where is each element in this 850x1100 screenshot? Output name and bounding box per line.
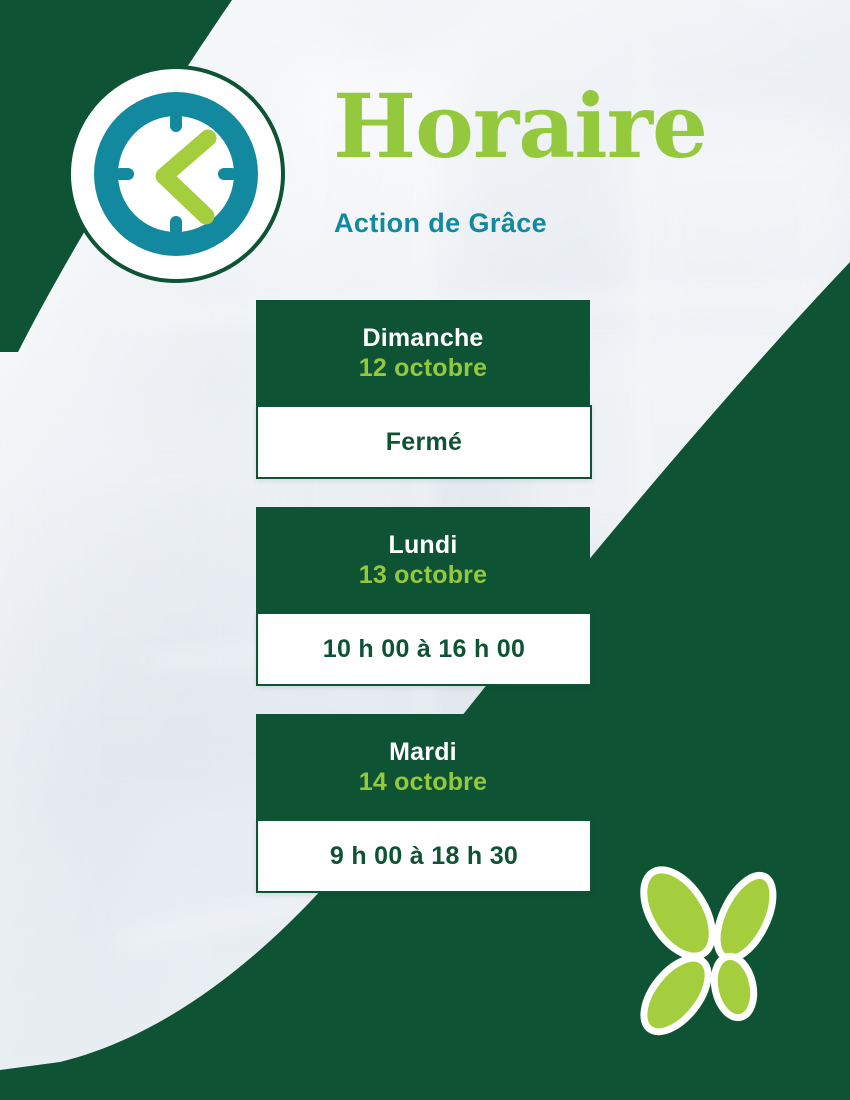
schedule-list: Dimanche 12 octobre Fermé Lundi 13 octob… [256, 300, 592, 893]
clock-icon [66, 64, 286, 284]
schedule-date-label: 12 octobre [256, 354, 590, 384]
schedule-card-body: 9 h 00 à 18 h 30 [256, 819, 592, 893]
schedule-poster: Horaire Action de Grâce Dimanche 12 octo… [0, 0, 850, 1100]
schedule-hours-value: 10 h 00 à 16 h 00 [323, 635, 525, 664]
schedule-hours-value: Fermé [386, 428, 463, 457]
schedule-card-body: Fermé [256, 405, 592, 479]
schedule-card: Dimanche 12 octobre Fermé [256, 300, 592, 479]
page-title: Horaire [333, 82, 707, 170]
schedule-card-header: Lundi 13 octobre [256, 507, 590, 612]
schedule-card-header: Dimanche 12 octobre [256, 300, 590, 405]
schedule-card: Mardi 14 octobre 9 h 00 à 18 h 30 [256, 714, 592, 893]
schedule-date-label: 14 octobre [256, 768, 590, 798]
schedule-date-label: 13 octobre [256, 561, 590, 591]
schedule-day-label: Dimanche [256, 324, 590, 354]
background-blur-shape [600, 560, 850, 740]
schedule-day-label: Mardi [256, 738, 590, 768]
butterfly-logo-icon [612, 855, 812, 1055]
schedule-card: Lundi 13 octobre 10 h 00 à 16 h 00 [256, 507, 592, 686]
schedule-day-label: Lundi [256, 531, 590, 561]
schedule-hours-value: 9 h 00 à 18 h 30 [330, 842, 518, 871]
schedule-card-body: 10 h 00 à 16 h 00 [256, 612, 592, 686]
page-subtitle: Action de Grâce [334, 208, 547, 239]
schedule-card-header: Mardi 14 octobre [256, 714, 590, 819]
